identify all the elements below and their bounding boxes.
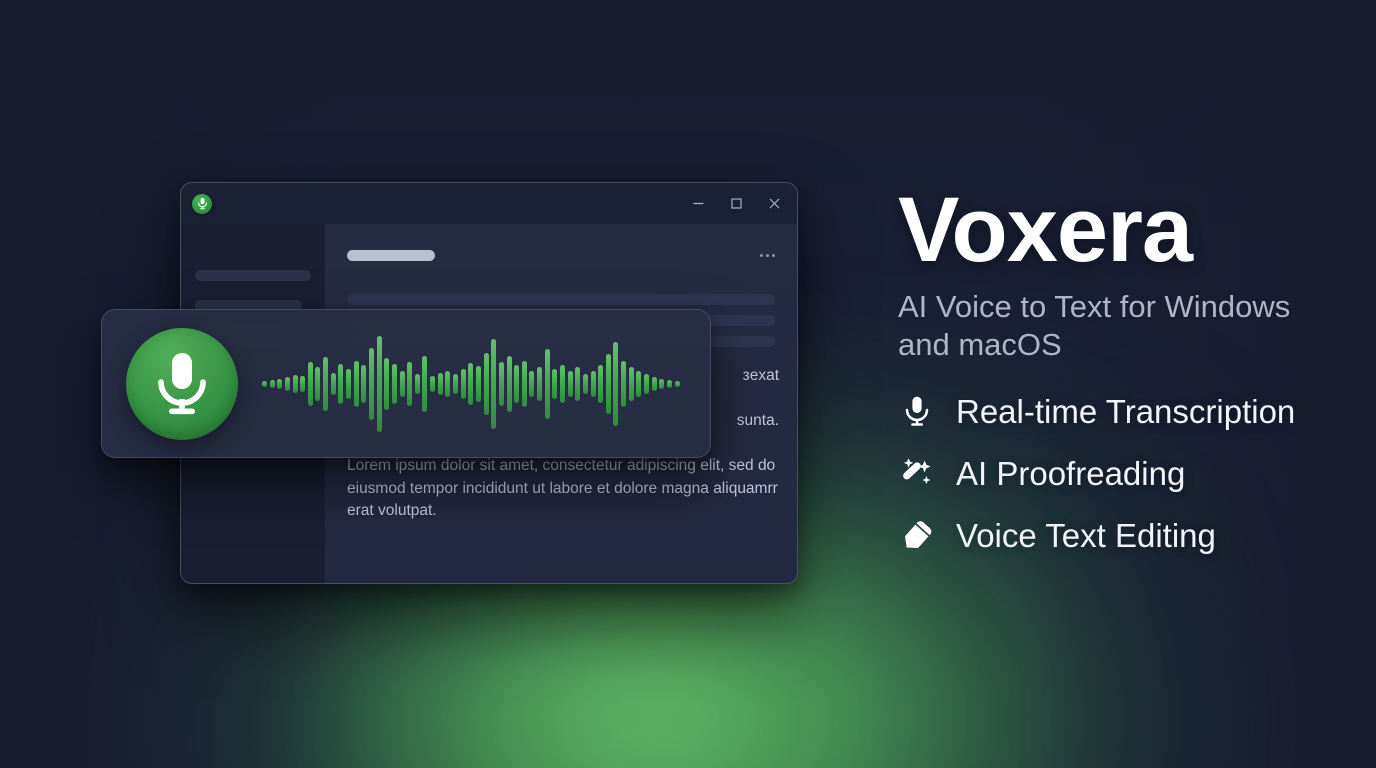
window-titlebar	[181, 183, 797, 224]
waveform-bar	[613, 342, 618, 426]
maximize-icon[interactable]	[717, 189, 755, 219]
waveform-bar	[415, 374, 420, 394]
waveform-bar	[606, 354, 611, 414]
recording-card	[101, 309, 711, 458]
pencil-icon	[898, 516, 936, 556]
waveform-bar	[507, 356, 512, 412]
waveform-bar	[392, 364, 397, 404]
waveform-bar	[270, 380, 275, 388]
audio-waveform	[262, 329, 686, 439]
feature-label: AI Proofreading	[956, 455, 1185, 493]
waveform-bar	[652, 377, 657, 391]
waveform-bar	[644, 374, 649, 394]
window-controls	[679, 189, 793, 219]
waveform-bar	[262, 381, 267, 387]
minimize-icon[interactable]	[679, 189, 717, 219]
feature-item-ai-proofreading: AI Proofreading	[898, 454, 1328, 494]
waveform-bar	[591, 371, 596, 397]
waveform-bar	[514, 365, 519, 403]
waveform-bar	[659, 379, 664, 389]
waveform-bar	[323, 357, 328, 411]
waveform-bar	[430, 376, 435, 392]
product-subtitle: AI Voice to Text for Windows and macOS	[898, 288, 1328, 364]
waveform-bar	[407, 362, 412, 406]
waveform-bar	[667, 380, 672, 388]
waveform-bar	[277, 379, 282, 389]
feature-item-voice-text-editing: Voice Text Editing	[898, 516, 1328, 556]
waveform-bar	[484, 353, 489, 415]
waveform-bar	[369, 348, 374, 420]
waveform-bar	[338, 364, 343, 404]
waveform-bar	[315, 367, 320, 401]
promo-panel: Voxera AI Voice to Text for Windows and …	[898, 186, 1328, 556]
promotional-banner: зexat sunta. Lorem ipsum dolor sit amet,…	[0, 0, 1376, 768]
close-icon[interactable]	[755, 189, 793, 219]
waveform-bar	[331, 373, 336, 395]
waveform-bar	[636, 371, 641, 397]
feature-label: Voice Text Editing	[956, 517, 1216, 555]
feature-item-real-time-transcription: Real-time Transcription	[898, 392, 1328, 432]
waveform-bar	[300, 376, 305, 392]
waveform-bar	[560, 365, 565, 403]
feature-label: Real-time Transcription	[956, 393, 1295, 431]
waveform-bar	[575, 367, 580, 401]
waveform-bar	[629, 367, 634, 401]
product-title: Voxera	[898, 186, 1328, 274]
waveform-bar	[377, 336, 382, 432]
waveform-bar	[583, 374, 588, 394]
record-microphone-button[interactable]	[126, 328, 238, 440]
waveform-bar	[545, 349, 550, 419]
waveform-bar	[598, 365, 603, 403]
waveform-bar	[308, 362, 313, 406]
magic-wand-icon	[898, 454, 936, 494]
more-options-icon[interactable]	[760, 254, 775, 257]
waveform-bar	[384, 358, 389, 410]
waveform-bar	[499, 362, 504, 406]
document-title-placeholder	[347, 250, 435, 261]
waveform-bar	[675, 381, 680, 387]
waveform-bar	[522, 361, 527, 407]
microphone-icon	[898, 392, 936, 432]
waveform-bar	[476, 366, 481, 402]
waveform-bar	[445, 371, 450, 397]
waveform-bar	[491, 339, 496, 429]
waveform-bar	[537, 367, 542, 401]
app-logo-microphone-icon	[192, 194, 212, 214]
waveform-bar	[438, 373, 443, 395]
waveform-bar	[400, 371, 405, 397]
waveform-bar	[361, 365, 366, 403]
waveform-bar	[422, 356, 427, 412]
waveform-bar	[552, 369, 557, 399]
content-header	[347, 250, 775, 261]
feature-list: Real-time Transcription AI Proofreading	[898, 392, 1328, 556]
waveform-bar	[453, 374, 458, 394]
waveform-bar	[621, 361, 626, 407]
transcript-body: Lorem ipsum dolor sit amet, consectetur …	[347, 457, 778, 519]
waveform-bar	[461, 369, 466, 399]
waveform-bar	[346, 369, 351, 399]
sidebar-item-placeholder[interactable]	[195, 270, 311, 281]
skeleton-line	[347, 294, 775, 305]
waveform-bar	[468, 363, 473, 405]
waveform-bar	[293, 375, 298, 393]
waveform-bar	[529, 371, 534, 397]
waveform-bar	[354, 361, 359, 407]
waveform-bar	[285, 377, 290, 391]
waveform-bar	[568, 371, 573, 397]
